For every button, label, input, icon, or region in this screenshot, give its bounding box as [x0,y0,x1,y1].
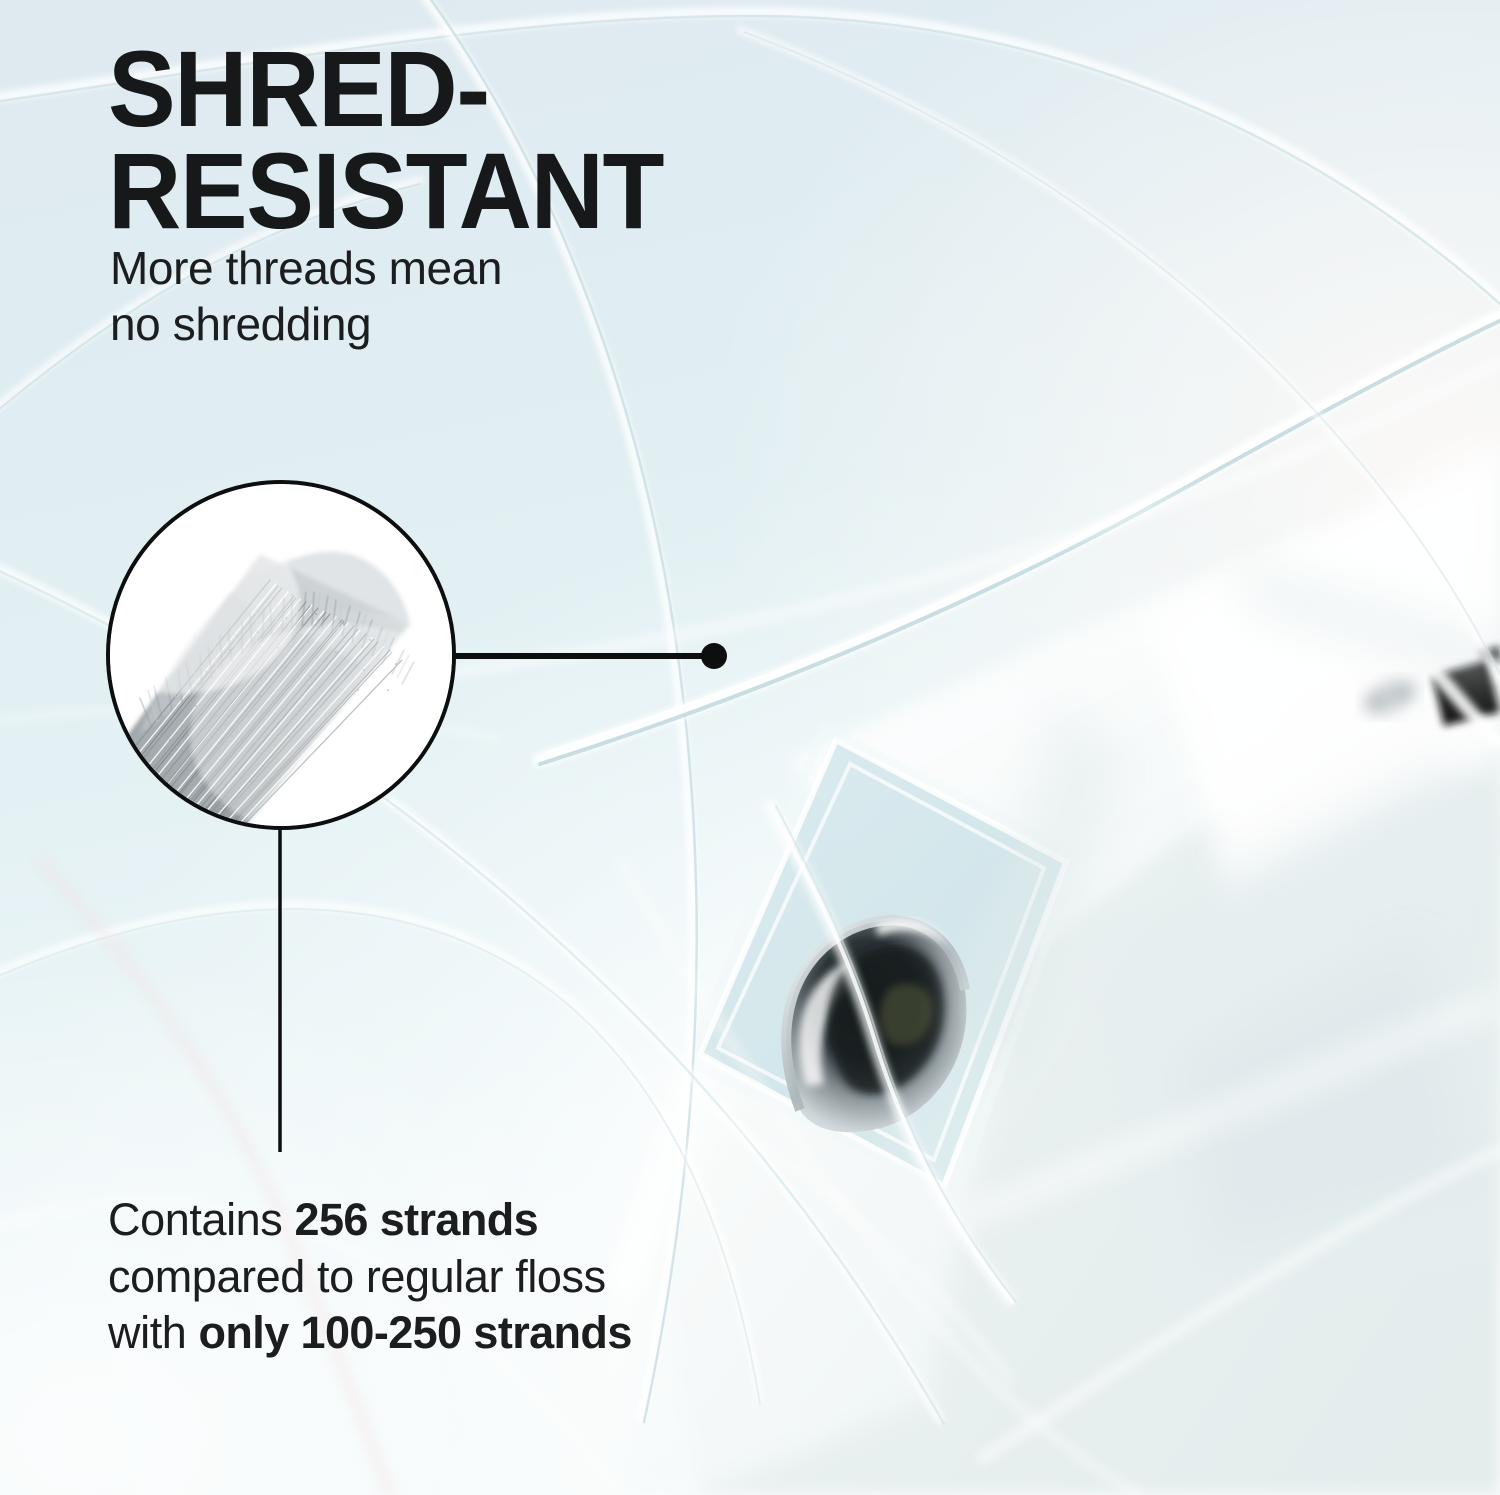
body-line-1-bold: 256 strands [295,1194,539,1245]
body-line-1-plain: Contains [108,1194,295,1245]
body-line-1: Contains 256 strands [108,1192,748,1249]
body-line-3-bold: only 100-250 strands [199,1307,632,1358]
body-copy: Contains 256 strands compared to regular… [108,1192,748,1362]
body-line-3: with only 100-250 strands [108,1305,748,1362]
magnified-fiber-inset [106,480,456,830]
promo-image: SHRED- RESISTANT More threads mean no sh… [0,0,1500,1495]
page-title: SHRED- RESISTANT [108,38,822,241]
subtitle: More threads mean no shredding [110,240,730,352]
body-line-2: compared to regular floss [108,1249,748,1306]
body-line-3-plain: with [108,1307,199,1358]
